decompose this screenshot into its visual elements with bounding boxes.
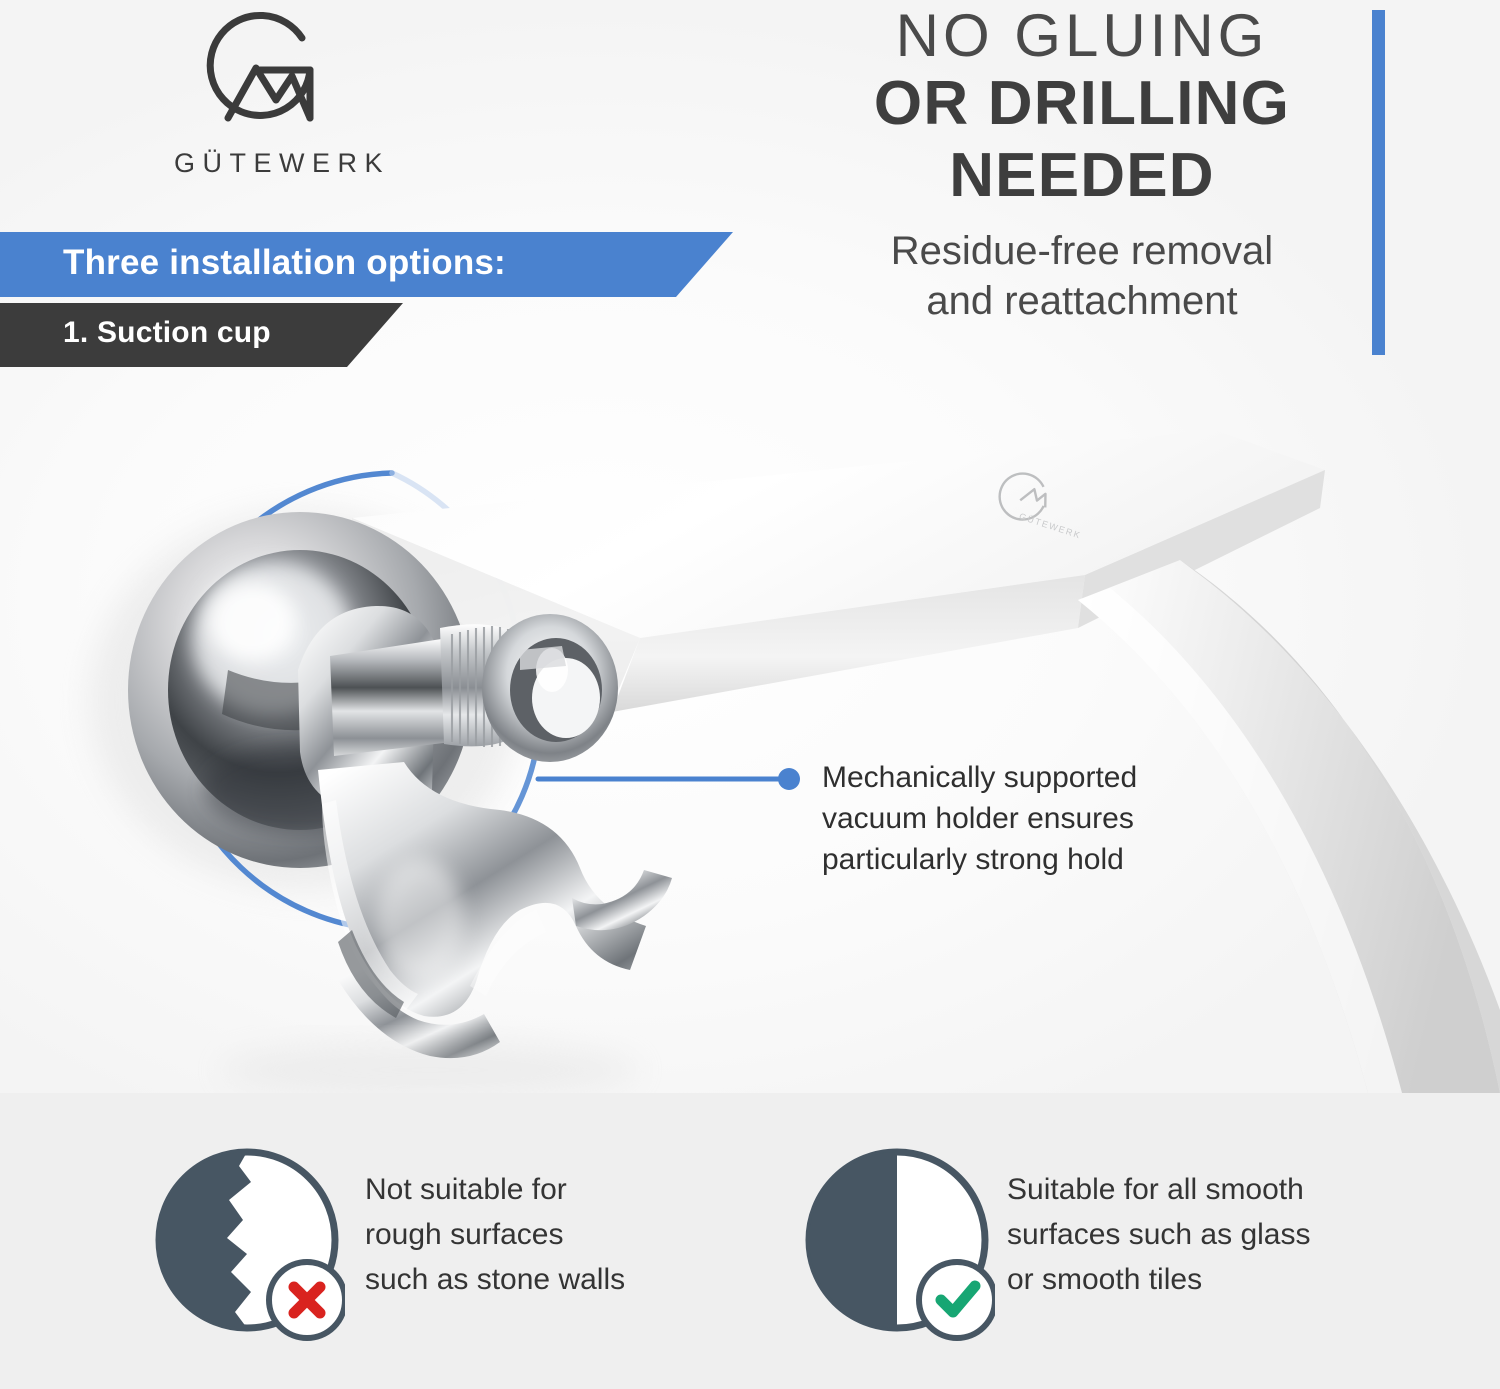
brand-wordmark: GÜTEWERK [152,148,412,179]
headline-block: NO GLUING OR DRILLING NEEDED Residue-fre… [782,0,1382,326]
annotation-line-3: particularly strong hold [822,839,1242,880]
installation-options-label: Three installation options: [63,243,506,283]
feature-not-suitable-line-2: rough surfaces [365,1212,695,1257]
feature-suitable: Suitable for all smooth surfaces such as… [740,1093,1500,1389]
headline-line-1: NO GLUING [782,4,1382,68]
headline-line-2: OR DRILLING [782,68,1382,140]
upper-panel: GÜTEWERK NO GLUING OR DRILLING NEEDED Re… [0,0,1500,1093]
feature-not-suitable-line-3: such as stone walls [365,1257,695,1302]
annotation-line-2: vacuum holder ensures [822,798,1242,839]
headline-subtitle: Residue-free removal and reattachment [782,226,1382,326]
suction-cup-banner: 1. Suction cup [0,303,403,367]
feature-not-suitable-text: Not suitable for rough surfaces such as … [365,1167,695,1302]
feature-suitable-line-3: or smooth tiles [1007,1257,1367,1302]
feature-suitable-line-2: surfaces such as glass [1007,1212,1367,1257]
installation-options-banner: Three installation options: [0,232,733,297]
feature-not-suitable: Not suitable for rough surfaces such as … [0,1093,740,1389]
feature-not-suitable-line-1: Not suitable for [365,1167,695,1212]
headline-line-3: NEEDED [782,140,1382,212]
brand-logo: GÜTEWERK [152,8,412,188]
compatibility-band: Not suitable for rough surfaces such as … [0,1093,1500,1389]
suction-cup-label: 1. Suction cup [63,316,271,350]
rough-surface-circle-icon [155,1142,345,1347]
infographic-root: GÜTEWERK NO GLUING OR DRILLING NEEDED Re… [0,0,1500,1389]
feature-suitable-text: Suitable for all smooth surfaces such as… [1007,1167,1367,1302]
headline-subtitle-line-1: Residue-free removal [782,226,1382,276]
gutewerk-g-mountain-logo-icon [198,8,328,130]
annotation-callout: Mechanically supported vacuum holder ens… [822,757,1242,880]
smooth-surface-circle-icon [805,1142,995,1347]
headline-accent-bar [1372,10,1385,355]
product-illustration: GÜTEWERK [0,370,1500,1093]
headline-subtitle-line-2: and reattachment [782,276,1382,326]
annotation-line-1: Mechanically supported [822,757,1242,798]
feature-suitable-line-1: Suitable for all smooth [1007,1167,1367,1212]
